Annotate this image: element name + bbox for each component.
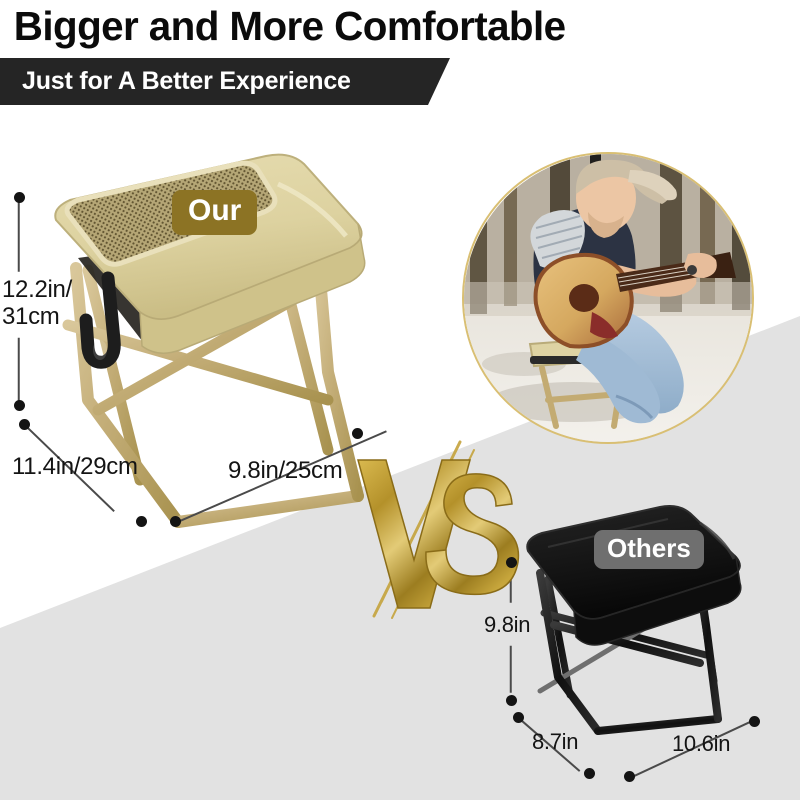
page-title: Bigger and More Comfortable	[0, 0, 788, 48]
our-height-label-line1: 12.2in/	[2, 277, 72, 304]
other-width-dot-right	[749, 716, 760, 727]
our-badge-label: Our	[188, 194, 241, 228]
other-badge-label: Others	[607, 533, 691, 564]
other-depth-label: 8.7in	[532, 729, 578, 755]
lifestyle-photo	[462, 152, 754, 444]
other-height-dot-top	[506, 557, 517, 568]
our-height-leader-lower	[18, 338, 20, 406]
our-product-badge: Our	[172, 190, 257, 235]
our-height-dot-top	[14, 192, 25, 203]
product-comparison-infographic: Bigger and More Comfortable Just for A B…	[0, 0, 800, 800]
other-height-leader-lower	[510, 646, 512, 693]
other-height-label: 9.8in	[484, 612, 530, 638]
header: Bigger and More Comfortable Just for A B…	[0, 0, 800, 105]
our-height-label: 12.2in/ 31cm	[2, 277, 72, 331]
other-product-badge: Others	[594, 530, 704, 569]
our-height-dot-bottom	[14, 400, 25, 411]
our-width-label: 9.8in/25cm	[228, 457, 342, 485]
our-height-leader-upper	[18, 200, 20, 272]
subtitle-text: Just for A Better Experience	[0, 67, 351, 96]
our-depth-label: 11.4in/29cm	[12, 453, 138, 481]
vs-divider: VS	[352, 432, 522, 622]
other-height-dot-bottom	[506, 695, 517, 706]
other-width-label: 10.6in	[672, 731, 730, 757]
subtitle-banner: Just for A Better Experience	[0, 58, 450, 105]
other-depth-dot-outer	[584, 768, 595, 779]
our-depth-dot-inner	[19, 419, 30, 430]
our-width-dot-outer	[170, 516, 181, 527]
other-depth-dot-inner	[513, 712, 524, 723]
our-depth-dot-outer	[136, 516, 147, 527]
our-height-label-line2: 31cm	[2, 304, 72, 331]
other-width-dot-left	[624, 771, 635, 782]
